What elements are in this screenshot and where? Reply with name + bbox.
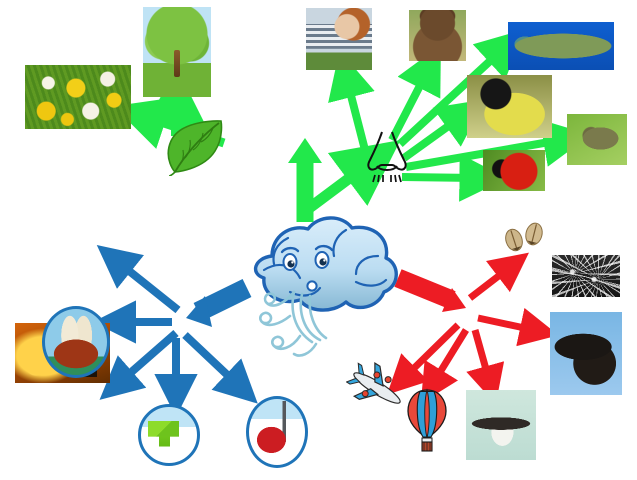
arrow-cloud-to-nose [300,165,367,215]
arrow-cloud-to-red-hub [398,278,466,312]
photo-girl-breathing[interactable]: Girl breathing [306,8,372,70]
photo-maple-seeds[interactable]: Maple seeds [500,220,548,258]
photo-bear[interactable]: Brown bear [409,10,466,61]
arrow-cloud-to-leaf [288,138,322,222]
photo-vacuum-cleaner[interactable]: Vacuum cleaner [246,396,308,468]
arrow-hub-to-furnace [118,262,178,310]
arrow-hub-to-seeds [470,268,509,298]
photo-bat[interactable]: Bat [550,312,622,395]
diagram-canvas: Dandelions Tree Girl breathing Brown bea… [0,0,637,480]
arrow-hub-to-bat [478,318,534,330]
arrow-hub-to-wind-turbines [120,333,176,382]
photo-dandelions[interactable]: Dandelions [25,65,131,129]
arrow-nose-to-ladybug [402,177,477,178]
photo-seagull[interactable]: Seagull [466,390,536,460]
icon-hot-air-balloon[interactable]: Hot air balloon [406,388,448,454]
photo-frog[interactable]: Frog [567,114,627,165]
photo-dandelion-fluff[interactable]: Dandelion fluff [552,255,620,297]
arrow-hub-to-airplane [405,325,458,377]
icon-nose[interactable]: Nose [364,128,410,184]
arrow-nose-to-bird [404,117,461,158]
icon-leaf[interactable]: Leaf [163,118,225,176]
icon-wind-cloud[interactable]: Wind cloud [228,212,404,372]
photo-sailing-ship[interactable]: Sailing ship [42,306,110,378]
photo-ladybug[interactable]: Ladybug [483,150,545,191]
photo-hair-dryer[interactable]: Hair dryer [138,404,200,466]
arrow-hub-to-seagull [475,330,489,380]
arrow-nose-to-girl [347,80,365,150]
arrow-hub-to-balloon [434,330,466,382]
photo-tree[interactable]: Tree [143,7,211,97]
photo-great-tit-bird[interactable]: Great tit [467,75,552,138]
photo-pike-fish[interactable]: Pike fish [508,22,614,70]
